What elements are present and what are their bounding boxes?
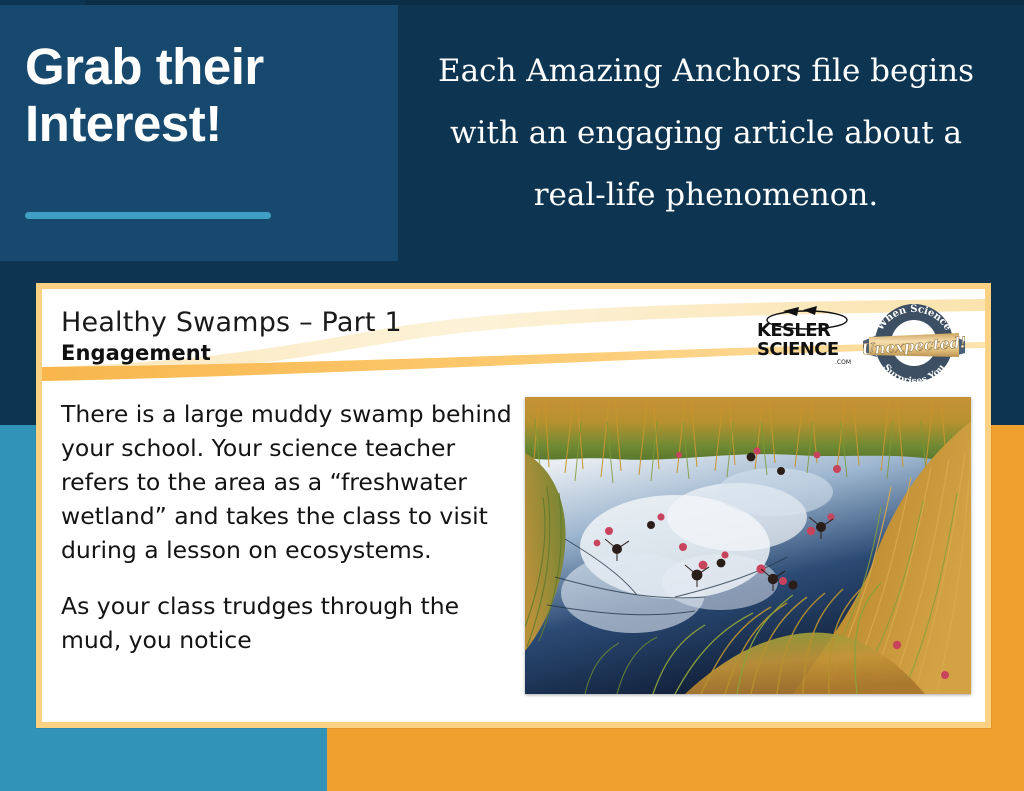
- document-page: Healthy Swamps – Part 1 Engagement KESLE…: [42, 289, 985, 722]
- kesler-science-logo: KESLER SCIENCE: [757, 321, 867, 359]
- teal-bottom-band: [0, 727, 327, 791]
- body-paragraph-1: There is a large muddy swamp behind your…: [61, 397, 513, 567]
- branding-block: KESLER SCIENCE .COM: [751, 297, 971, 389]
- hero-title: Grab their Interest!: [25, 38, 385, 152]
- document-subtitle: Engagement: [61, 341, 211, 365]
- hero-subtitle: Each Amazing Anchors file begins with an…: [412, 40, 1000, 226]
- wetland-photo: [525, 397, 971, 694]
- document-title: Healthy Swamps – Part 1: [61, 307, 402, 338]
- orange-bottom-band: [327, 727, 1024, 791]
- body-paragraph-2: As your class trudges through the mud, y…: [61, 589, 513, 657]
- wetland-photo-art: [525, 397, 971, 694]
- logo-line-2: SCIENCE: [757, 340, 867, 359]
- unexpected-badge-icon: When Science Surprises You Unexpected!: [863, 297, 965, 389]
- hero-title-line-1: Grab their: [25, 38, 385, 95]
- document-header: Healthy Swamps – Part 1 Engagement KESLE…: [42, 289, 985, 389]
- document-body-text: There is a large muddy swamp behind your…: [61, 397, 513, 657]
- hero-title-line-2: Interest!: [25, 95, 385, 152]
- logo-line-1: KESLER: [757, 321, 867, 340]
- hero-underline-rule: [25, 212, 271, 219]
- document-card: Healthy Swamps – Part 1 Engagement KESLE…: [36, 283, 991, 728]
- slide-canvas: Grab their Interest! Each Amazing Anchor…: [0, 0, 1024, 791]
- logo-dotcom: .COM: [835, 359, 851, 366]
